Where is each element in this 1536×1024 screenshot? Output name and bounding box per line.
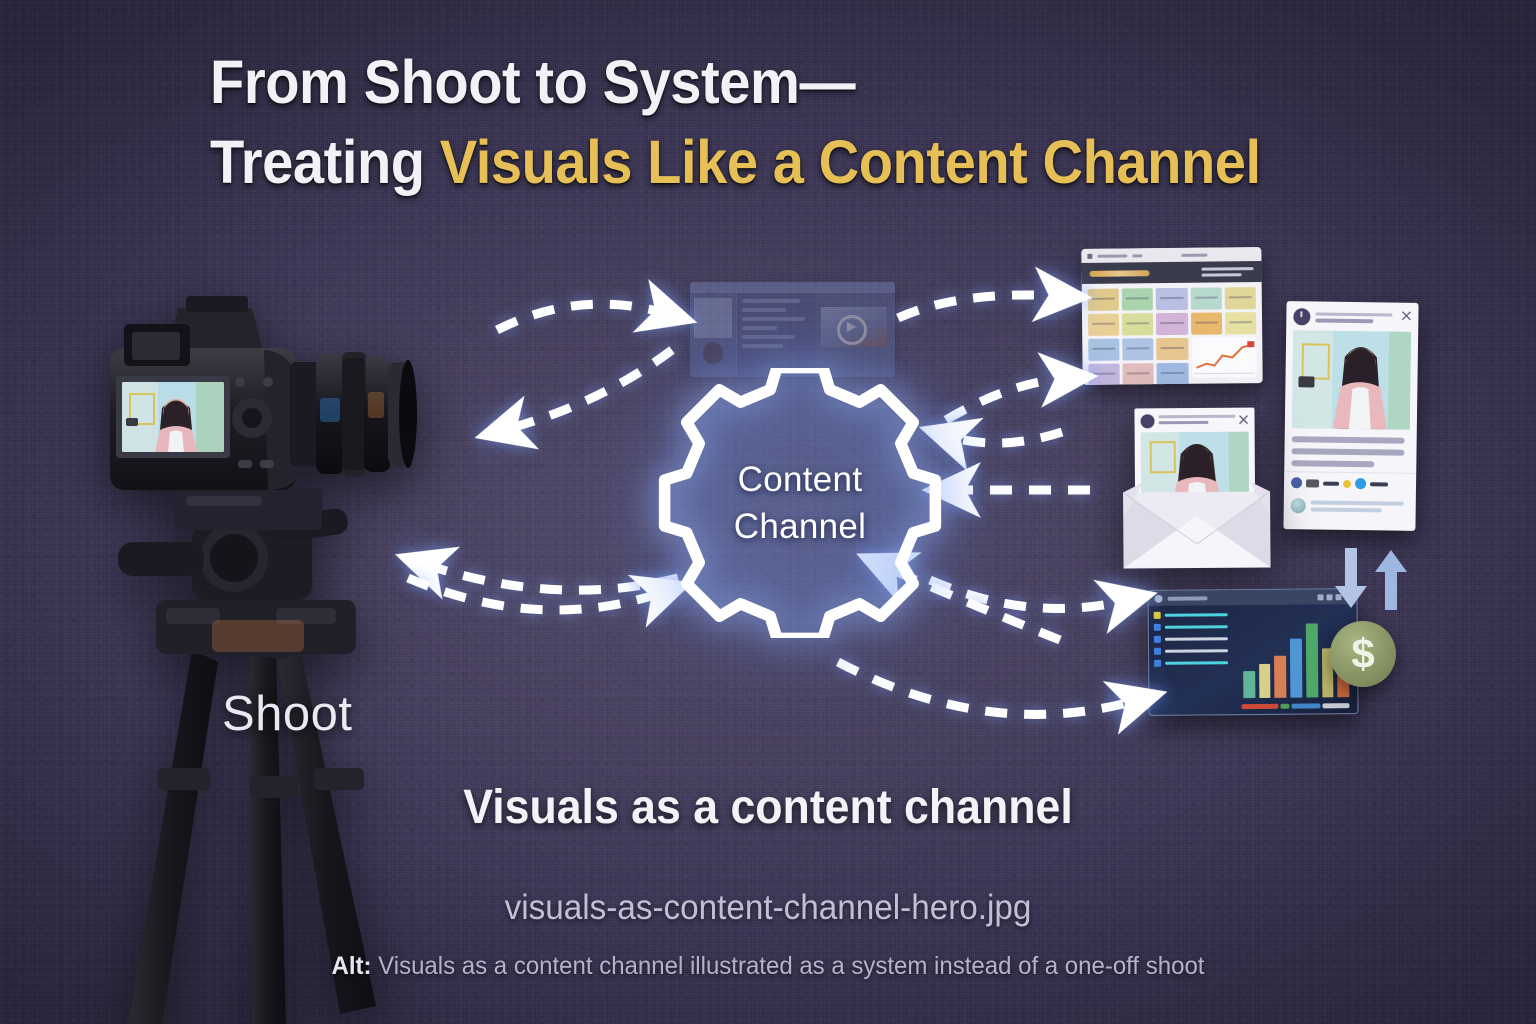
arrow-hub-to-calendar <box>946 378 1068 420</box>
analytics-metrics-list[interactable] <box>1149 605 1234 715</box>
analytics-bar <box>1306 623 1318 697</box>
title-line-2-gold: Visuals Like a Content Channel <box>440 128 1261 196</box>
like-icon[interactable] <box>1291 477 1302 488</box>
video-panel-thumbnail <box>694 298 732 338</box>
avatar-icon <box>703 342 723 364</box>
content-channel-hub-gear-icon: Content Channel <box>655 368 945 638</box>
commenter-avatar <box>1291 498 1306 513</box>
hero-title: From Shoot to System— Treating Visuals L… <box>210 42 1410 202</box>
avatar-icon <box>1140 414 1154 428</box>
close-icon[interactable] <box>1401 311 1411 321</box>
title-line-2-white: Treating <box>210 128 440 196</box>
analytics-metric-row[interactable] <box>1154 623 1228 631</box>
video-panel-titlebar <box>690 282 895 293</box>
title-line-1: From Shoot to System— <box>210 42 1314 122</box>
metric-label-bar <box>1165 637 1228 641</box>
kanban-card[interactable] <box>1122 313 1153 335</box>
arrow-hub-to-analytics-lower <box>838 662 1138 714</box>
analytics-metric-row[interactable] <box>1154 659 1228 667</box>
kanban-trend-chart <box>1192 337 1256 378</box>
email-newsletter-envelope[interactable] <box>1122 407 1270 568</box>
video-editor-panel[interactable] <box>690 282 895 377</box>
analytics-bar <box>1290 639 1302 698</box>
arrow-hub-to-shoot <box>424 564 678 590</box>
analytics-progress-bar <box>1241 703 1349 709</box>
kanban-toolbar[interactable] <box>1081 261 1261 284</box>
metric-label-bar <box>1165 661 1228 665</box>
kanban-card[interactable] <box>1190 287 1221 309</box>
social-post-card[interactable] <box>1283 301 1418 531</box>
kanban-card[interactable] <box>1157 363 1188 385</box>
metric-label-bar <box>1165 625 1228 629</box>
kanban-card[interactable] <box>1088 289 1119 311</box>
analytics-metric-row[interactable] <box>1154 635 1228 643</box>
window-dot-icon <box>1154 594 1162 602</box>
content-calendar-dashboard[interactable] <box>1081 247 1262 385</box>
alt-prefix: Alt: <box>332 952 372 980</box>
image-filename: visuals-as-content-channel-hero.jpg <box>38 888 1497 928</box>
video-panel-timeline <box>737 293 815 377</box>
video-panel-body <box>690 293 895 377</box>
upload-download-arrows-icon <box>1327 548 1417 610</box>
alt-text-line: Alt: Visuals as a content channel illust… <box>31 952 1506 981</box>
kanban-card[interactable] <box>1156 288 1187 310</box>
kanban-card[interactable] <box>1088 339 1119 361</box>
social-post-text <box>1284 428 1417 473</box>
window-dot-icon <box>1087 253 1092 258</box>
avatar-icon <box>1293 308 1310 325</box>
analytics-metric-row[interactable] <box>1154 611 1228 619</box>
revenue-coin-icon: $ <box>1330 621 1396 687</box>
arrow-editor-to-shoot <box>504 350 672 430</box>
social-post-reactions[interactable] <box>1284 471 1416 495</box>
analytics-progress-segment <box>1241 704 1278 709</box>
hub-label-line2: Channel <box>734 503 866 550</box>
social-post-author <box>1315 312 1411 323</box>
hub-label: Content Channel <box>655 368 945 638</box>
kanban-card[interactable] <box>1157 338 1188 360</box>
analytics-progress-segment <box>1322 703 1349 708</box>
kanban-brand-pill <box>1090 270 1150 277</box>
hero-image-canvas: From Shoot to System— Treating Visuals L… <box>0 0 1536 1024</box>
social-post-comment[interactable] <box>1284 493 1416 520</box>
hub-label-line1: Content <box>738 456 863 503</box>
metric-swatch-icon <box>1154 624 1161 631</box>
hero-caption: Visuals as a content channel <box>54 780 1482 835</box>
analytics-bar <box>1243 671 1255 698</box>
metric-swatch-icon <box>1154 660 1161 667</box>
metric-label-bar <box>1165 649 1228 653</box>
metric-swatch-icon <box>1154 636 1161 643</box>
title-line-2: Treating Visuals Like a Content Channel <box>210 122 1314 202</box>
metric-label-bar <box>1165 613 1228 617</box>
newsletter-header <box>1134 408 1254 433</box>
metric-swatch-icon <box>1154 612 1161 619</box>
close-icon[interactable] <box>1238 415 1248 425</box>
kanban-card[interactable] <box>1123 363 1154 385</box>
kanban-card[interactable] <box>1225 312 1256 334</box>
arrow-calendar-to-hub <box>948 432 1062 443</box>
envelope-icon <box>1123 481 1271 568</box>
video-panel-sidebar <box>690 293 737 377</box>
alt-text: Visuals as a content channel illustrated… <box>378 952 1204 980</box>
analytics-bar <box>1274 656 1286 698</box>
arrow-shoot-to-editor <box>497 304 668 330</box>
kanban-card[interactable] <box>1122 338 1153 360</box>
kanban-card[interactable] <box>1122 288 1153 310</box>
kanban-card[interactable] <box>1088 364 1119 385</box>
arrow-shoot-to-hub <box>408 578 664 610</box>
emoji-icon[interactable] <box>1343 479 1351 487</box>
kanban-card[interactable] <box>1225 287 1256 309</box>
social-post-header <box>1286 301 1418 332</box>
coin-symbol: $ <box>1351 633 1374 675</box>
analytics-bar <box>1259 664 1271 698</box>
kanban-nav-lines <box>1201 267 1253 277</box>
share-icon[interactable] <box>1355 478 1366 489</box>
analytics-progress-segment <box>1280 704 1290 709</box>
shoot-label: Shoot <box>222 686 353 742</box>
kanban-card[interactable] <box>1156 313 1187 335</box>
analytics-metric-row[interactable] <box>1154 647 1228 655</box>
play-icon[interactable] <box>837 315 867 345</box>
video-panel-preview[interactable] <box>815 293 895 377</box>
arrow-editor-to-calendar <box>898 295 1062 318</box>
arrow-hub-to-analytics <box>930 580 1128 608</box>
social-post-image <box>1292 330 1411 430</box>
analytics-progress-segment <box>1292 703 1320 708</box>
kanban-card[interactable] <box>1191 312 1222 334</box>
metric-swatch-icon <box>1154 648 1161 655</box>
kanban-card[interactable] <box>1088 314 1119 336</box>
